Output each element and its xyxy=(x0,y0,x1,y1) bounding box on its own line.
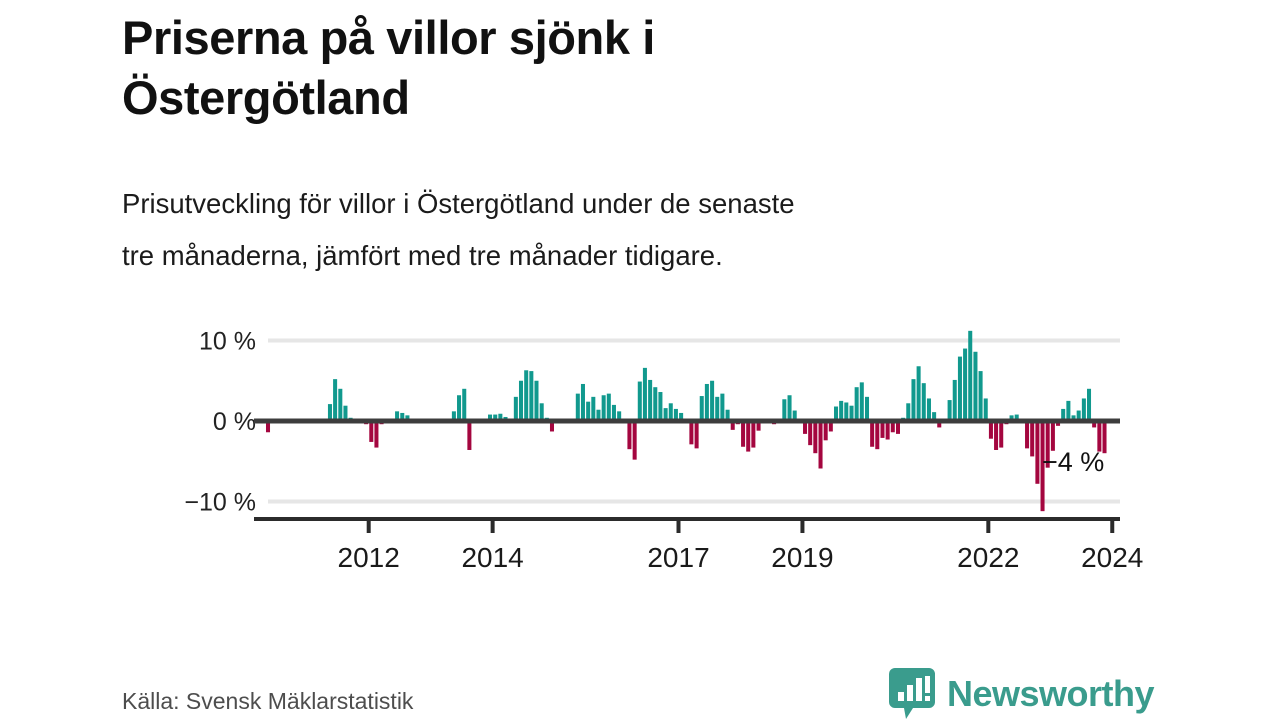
chart-bar xyxy=(607,394,611,421)
chart-bar xyxy=(529,371,533,421)
chart-bar xyxy=(999,421,1003,448)
chart-bar xyxy=(917,366,921,421)
chart-bar xyxy=(581,384,585,421)
chart-bar xyxy=(813,421,817,453)
chart-bar xyxy=(741,421,745,447)
chart-bar xyxy=(746,421,750,452)
bar-chart: 10 %0 %−10 %201220142017201920222024−4 % xyxy=(0,300,1280,600)
brand-logo: Newsworthy xyxy=(889,668,1154,720)
chart-bar xyxy=(633,421,637,460)
chart-bar xyxy=(782,399,786,421)
chart-bar xyxy=(715,397,719,421)
chart-bar xyxy=(369,421,373,442)
x-axis-tick-label: 2022 xyxy=(957,542,1019,573)
x-axis-tick-label: 2017 xyxy=(647,542,709,573)
chart-bar xyxy=(860,382,864,421)
chart-bar xyxy=(1035,421,1039,484)
chart-bar xyxy=(586,402,590,421)
chart-bar xyxy=(984,398,988,421)
chart-bar xyxy=(844,402,848,421)
x-axis-tick-label: 2019 xyxy=(771,542,833,573)
chart-bar xyxy=(658,392,662,421)
chart-bar xyxy=(695,421,699,448)
chart-bar xyxy=(875,421,879,449)
chart-bar xyxy=(1082,398,1086,421)
chart-bar xyxy=(870,421,874,447)
chart-bar xyxy=(958,357,962,421)
chart-bar xyxy=(808,421,812,445)
chart-container: 10 %0 %−10 %201220142017201920222024−4 % xyxy=(0,300,1280,600)
x-axis-tick-label: 2024 xyxy=(1081,542,1143,573)
chart-bar xyxy=(1087,389,1091,421)
chart-bar xyxy=(576,394,580,421)
chart-bar xyxy=(462,389,466,421)
chart-bar xyxy=(519,381,523,421)
chart-bar xyxy=(968,331,972,421)
chart-bar xyxy=(1066,401,1070,421)
chart-bar xyxy=(524,370,528,421)
chart-bar xyxy=(886,421,890,440)
chart-bar xyxy=(627,421,631,449)
chart-bar xyxy=(1025,421,1029,448)
brand-name: Newsworthy xyxy=(947,676,1154,712)
chart-bar xyxy=(328,404,332,421)
chart-bar xyxy=(591,397,595,421)
chart-bar xyxy=(705,384,709,421)
chart-bar xyxy=(467,421,471,450)
x-axis-tick-label: 2012 xyxy=(338,542,400,573)
chart-bar xyxy=(720,394,724,421)
y-axis-tick-label: −10 % xyxy=(184,489,256,517)
chart-bar xyxy=(643,368,647,421)
chart-bar xyxy=(855,387,859,421)
x-axis-tick-label: 2014 xyxy=(461,542,523,573)
chart-bar xyxy=(880,421,884,438)
chart-bar xyxy=(602,395,606,421)
chart-bar xyxy=(865,397,869,421)
chart-bar xyxy=(1030,421,1034,456)
chart-bar xyxy=(953,380,957,421)
bar-chart-speech-bubble-icon xyxy=(889,668,935,720)
chart-bar xyxy=(839,401,843,421)
chart-bar xyxy=(927,398,931,421)
chart-bar xyxy=(979,371,983,421)
chart-bar xyxy=(689,421,693,444)
chart-bar xyxy=(963,349,967,421)
chart-bar xyxy=(534,381,538,421)
chart-bar xyxy=(338,389,342,421)
chart-bar xyxy=(911,379,915,421)
chart-bar xyxy=(638,382,642,421)
page-title: Priserna på villor sjönk i Östergötland xyxy=(122,8,1102,128)
chart-page: Priserna på villor sjönk i Östergötland … xyxy=(0,0,1280,720)
chart-bar xyxy=(751,421,755,448)
chart-bar xyxy=(457,395,461,421)
chart-bar xyxy=(989,421,993,439)
chart-bar xyxy=(700,396,704,421)
chart-subtitle: Prisutveckling för villor i Östergötland… xyxy=(122,178,1122,283)
chart-bar xyxy=(973,352,977,421)
chart-bar xyxy=(819,421,823,469)
chart-bar xyxy=(948,400,952,421)
chart-bar xyxy=(906,403,910,421)
chart-bar xyxy=(994,421,998,450)
chart-bar xyxy=(922,383,926,421)
chart-bar xyxy=(648,380,652,421)
chart-bar xyxy=(669,403,673,421)
chart-bar xyxy=(540,403,544,421)
y-axis-tick-label: 10 % xyxy=(199,328,256,356)
chart-bar xyxy=(653,387,657,421)
chart-bar xyxy=(333,379,337,421)
value-annotation: −4 % xyxy=(1042,447,1104,477)
chart-bar xyxy=(514,397,518,421)
y-axis-tick-label: 0 % xyxy=(213,408,256,436)
chart-bar xyxy=(824,421,828,440)
chart-bar xyxy=(374,421,378,448)
source-label: Källa: Svensk Mäklarstatistik xyxy=(122,688,413,715)
chart-bar xyxy=(788,395,792,421)
chart-bar xyxy=(710,381,714,421)
